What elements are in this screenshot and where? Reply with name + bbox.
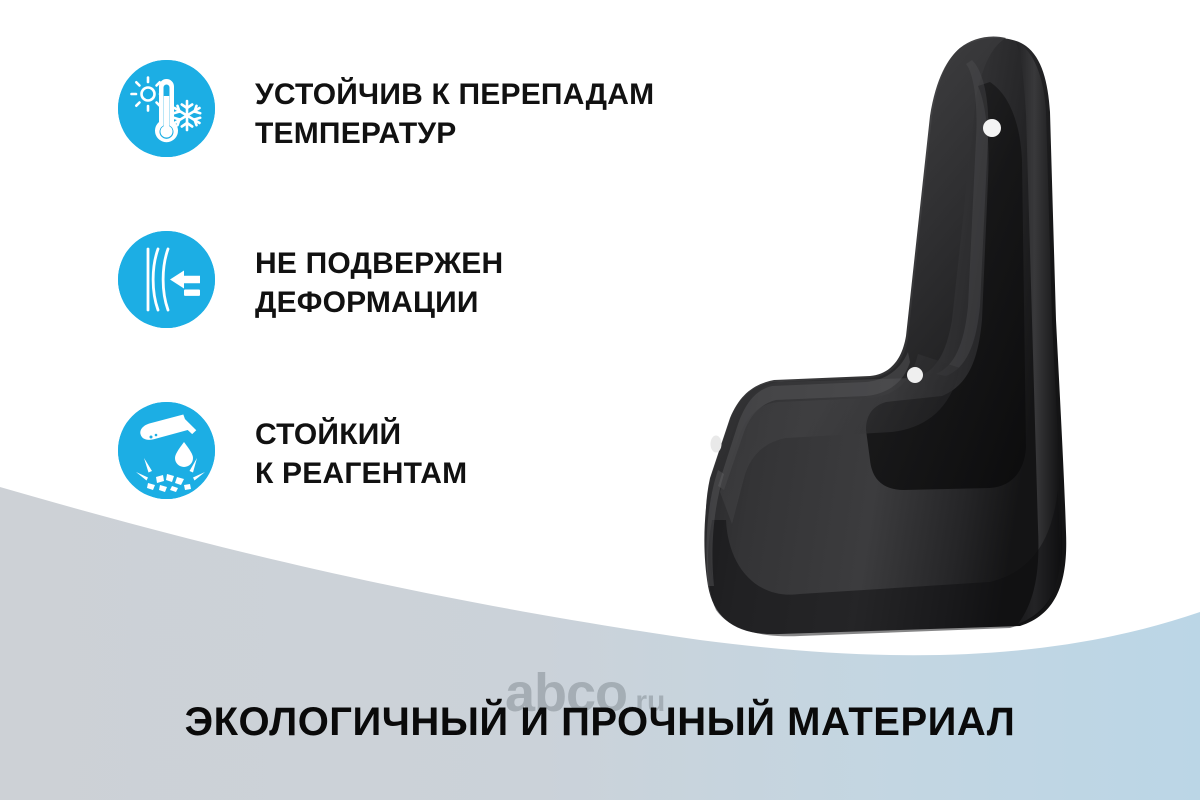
mounting-hole-middle (907, 367, 923, 383)
feature-item-reagents: СТОЙКИЙ К РЕАГЕНТАМ (118, 402, 718, 499)
feature-item-deformation: НЕ ПОДВЕРЖЕН ДЕФОРМАЦИИ (118, 231, 718, 328)
flask-droplet-splash-icon (118, 402, 215, 499)
banner-canvas: УСТОЙЧИВ К ПЕРЕПАДАМ ТЕМПЕРАТУР (0, 0, 1200, 800)
feature-label: СТОЙКИЙ К РЕАГЕНТАМ (255, 402, 467, 493)
mounting-hole-left (711, 436, 722, 453)
flex-arrow-deformation-icon (118, 231, 215, 328)
product-image-mud-flap (660, 20, 1140, 660)
feature-item-temperature: УСТОЙЧИВ К ПЕРЕПАДАМ ТЕМПЕРАТУР (118, 60, 718, 157)
feature-list: УСТОЙЧИВ К ПЕРЕПАДАМ ТЕМПЕРАТУР (118, 60, 718, 499)
thermometer-sun-snowflake-icon (118, 60, 215, 157)
page-title: ЭКОЛОГИЧНЫЙ И ПРОЧНЫЙ МАТЕРИАЛ (0, 700, 1200, 745)
feature-label: НЕ ПОДВЕРЖЕН ДЕФОРМАЦИИ (255, 231, 503, 322)
feature-label: УСТОЙЧИВ К ПЕРЕПАДАМ ТЕМПЕРАТУР (255, 60, 654, 153)
mounting-hole-top (983, 119, 1001, 137)
mud-flap-body (704, 36, 1066, 636)
